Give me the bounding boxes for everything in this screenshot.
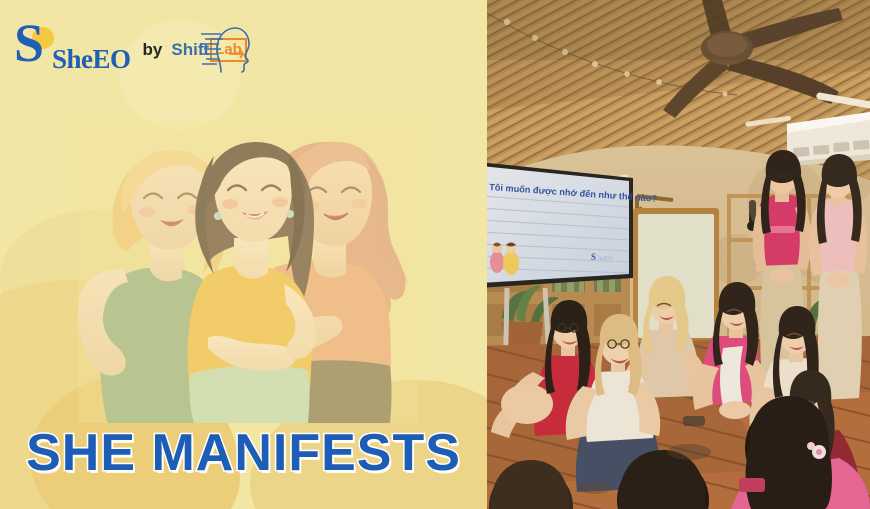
sheeo-wordmark: S SheEO: [14, 22, 131, 73]
sheeo-logo[interactable]: S SheEO by Shift Lab: [14, 22, 247, 73]
banner-title-text: SHE MANIFESTS: [26, 423, 461, 483]
she-manifests-banner: S SheEO by Shift Lab: [0, 0, 870, 509]
sheeo-s-mark-icon: S: [14, 22, 56, 66]
workshop-room-photo: Tôi muốn được nhớ đến như thế nào? S heE…: [487, 0, 870, 509]
three-women-illustration: [78, 118, 418, 423]
banner-title: SHE MANIFESTS: [0, 423, 487, 483]
logo-connector-by: by: [143, 40, 163, 60]
shiftlab-wordmark: Shift Lab: [171, 36, 246, 60]
workshop-photo-panel: Tôi muốn được nhớ đến như thế nào? S heE…: [487, 0, 870, 509]
left-panel: S SheEO by Shift Lab: [0, 0, 487, 509]
sheeo-brand-text: SheEO: [52, 44, 131, 75]
head-profile-icon: [199, 24, 251, 74]
letter-s-glyph: S: [14, 16, 44, 70]
